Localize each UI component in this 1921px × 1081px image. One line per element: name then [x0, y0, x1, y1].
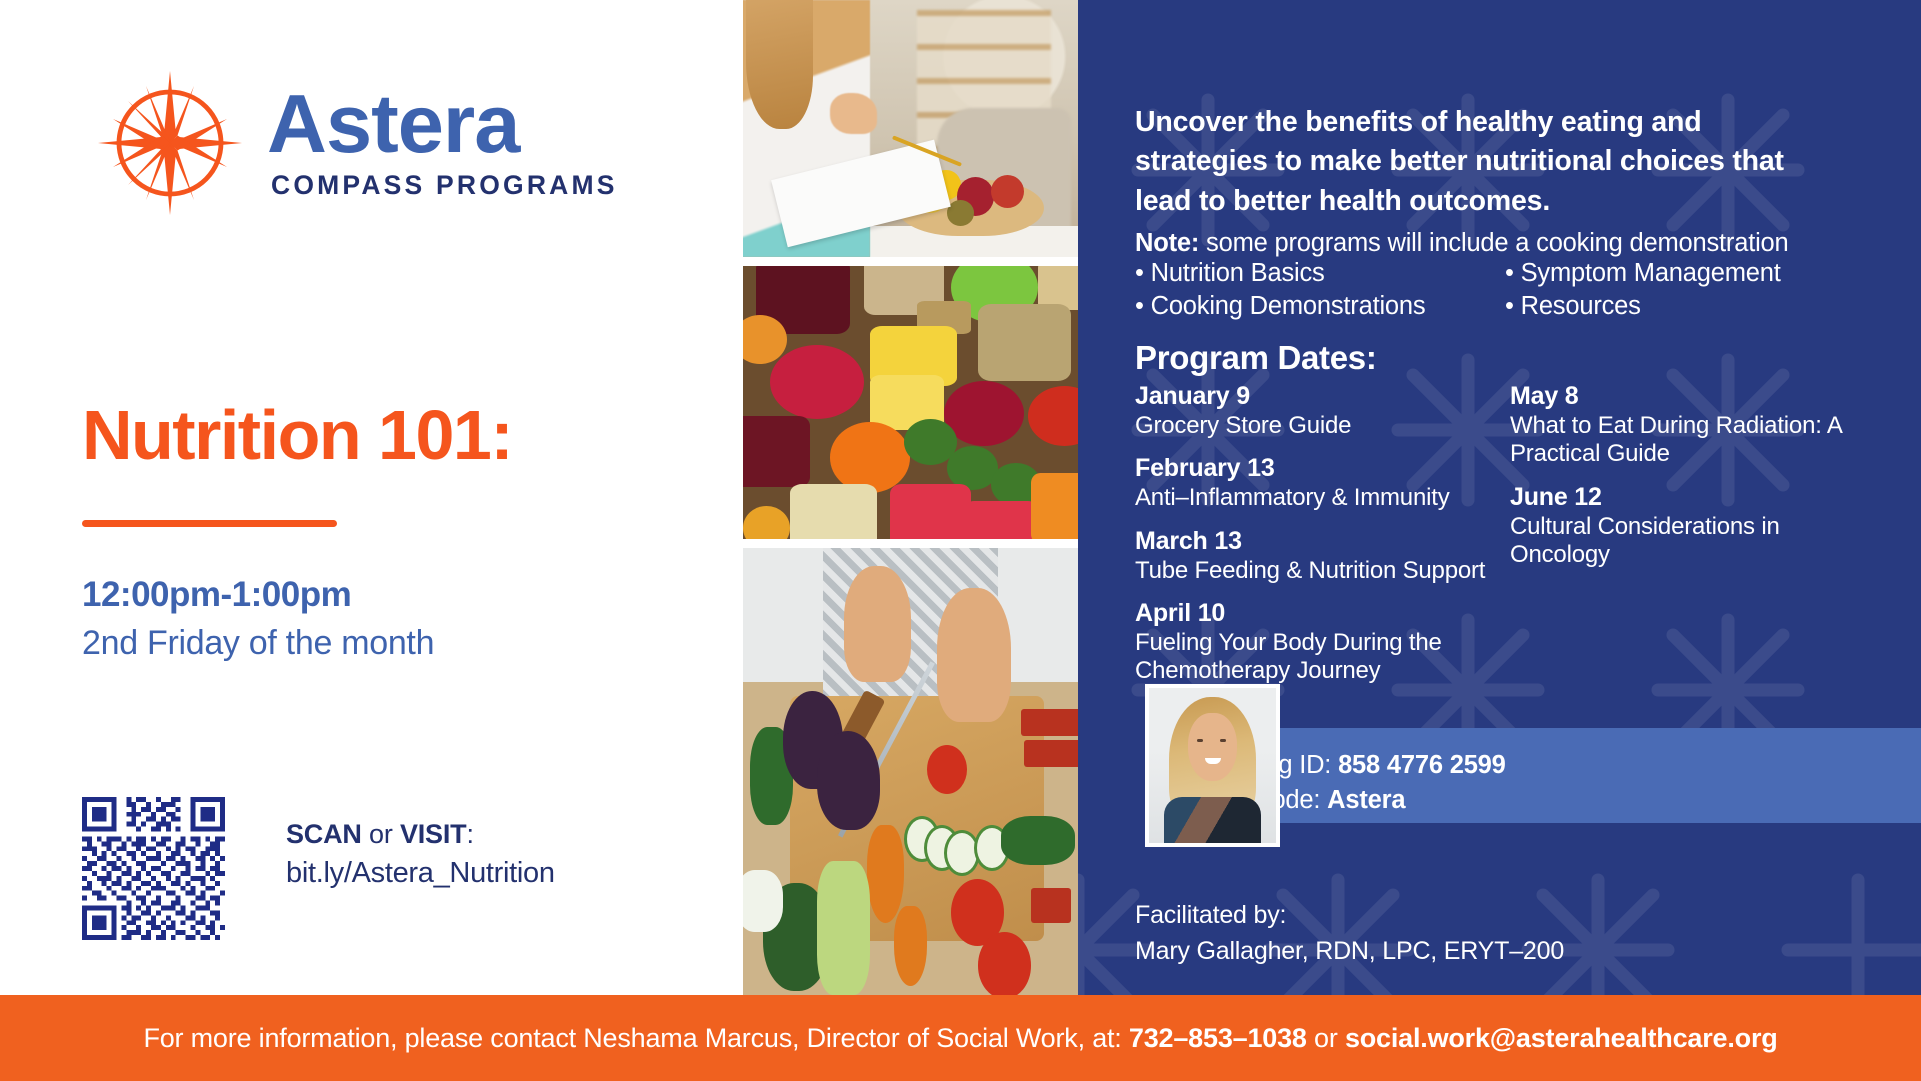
date-entry: February 13 Anti–Inflammatory & Immunity: [1135, 453, 1510, 512]
program-dates-heading: Program Dates:: [1135, 339, 1377, 377]
facilitated-by-label: Facilitated by:: [1135, 898, 1564, 934]
scan-label: SCAN: [286, 819, 362, 849]
date-entry: January 9 Grocery Store Guide: [1135, 381, 1510, 440]
date-topic: Cultural Considerations in Oncology: [1510, 513, 1885, 570]
date-topic: Tube Feeding & Nutrition Support: [1135, 557, 1510, 585]
scan-or-visit-line: SCAN or VISIT:: [286, 819, 555, 850]
date-topic: Grocery Store Guide: [1135, 412, 1510, 440]
visit-url[interactable]: bit.ly/Astera_Nutrition: [286, 857, 555, 890]
topics-left-column: • Nutrition Basics • Cooking Demonstrati…: [1135, 258, 1505, 324]
page-title: Nutrition 101:: [82, 400, 702, 470]
date-entry: June 12 Cultural Considerations in Oncol…: [1510, 482, 1885, 570]
date-label: May 8: [1510, 381, 1885, 411]
program-dates-list: January 9 Grocery Store Guide February 1…: [1135, 381, 1921, 699]
date-label: February 13: [1135, 453, 1510, 483]
healthy-foods-flatlay-photo: [743, 266, 1078, 539]
date-label: June 12: [1510, 482, 1885, 512]
date-topic: What to Eat During Radiation: A Practica…: [1510, 412, 1885, 469]
topic-item: • Nutrition Basics: [1135, 258, 1505, 289]
title-block: Nutrition 101: 12:00pm-1:00pm 2nd Friday…: [82, 400, 702, 663]
date-topic: Fueling Your Body During the Chemotherap…: [1135, 629, 1510, 686]
dates-right-column: May 8 What to Eat During Radiation: A Pr…: [1510, 381, 1885, 699]
topic-item: • Resources: [1505, 291, 1875, 322]
qr-block: SCAN or VISIT: bit.ly/Astera_Nutrition: [82, 797, 555, 940]
meeting-id-value: 858 4776 2599: [1338, 751, 1506, 779]
flyer-canvas: Astera COMPASS PROGRAMS Nutrition 101: 1…: [0, 0, 1921, 1081]
date-label: March 13: [1135, 526, 1510, 556]
topic-item: • Cooking Demonstrations: [1135, 291, 1505, 322]
program-time: 12:00pm-1:00pm: [82, 575, 702, 615]
footer-email[interactable]: social.work@asterahealthcare.org: [1345, 1023, 1778, 1053]
visit-label: VISIT: [400, 819, 467, 849]
intro-paragraph: Uncover the benefits of healthy eating a…: [1135, 103, 1825, 221]
chopping-vegetables-photo: [743, 548, 1078, 995]
contact-footer-bar: For more information, please contact Nes…: [0, 995, 1921, 1081]
date-entry: May 8 What to Eat During Radiation: A Pr…: [1510, 381, 1885, 469]
dates-left-column: January 9 Grocery Store Guide February 1…: [1135, 381, 1510, 699]
scan-colon: :: [466, 819, 473, 849]
scan-instructions: SCAN or VISIT: bit.ly/Astera_Nutrition: [286, 819, 555, 890]
logo-wordmark: Astera COMPASS PROGRAMS: [267, 85, 618, 202]
topic-item: • Symptom Management: [1505, 258, 1875, 289]
dietitian-consultation-photo: [743, 0, 1078, 257]
facilitator-block: Facilitated by: Mary Gallagher, RDN, LPC…: [1135, 898, 1564, 969]
date-topic: Anti–Inflammatory & Immunity: [1135, 484, 1510, 512]
title-divider: [82, 520, 337, 527]
passcode-value: Astera: [1327, 786, 1405, 814]
facilitator-name: Mary Gallagher, RDN, LPC, ERYT–200: [1135, 934, 1564, 970]
qr-code-icon[interactable]: [82, 797, 225, 940]
date-entry: March 13 Tube Feeding & Nutrition Suppor…: [1135, 526, 1510, 585]
date-label: April 10: [1135, 598, 1510, 628]
note-text: some programs will include a cooking dem…: [1199, 229, 1788, 257]
program-frequency: 2nd Friday of the month: [82, 624, 702, 663]
scan-conjunction: or: [362, 819, 400, 849]
photo-gap-2: [743, 539, 1078, 548]
footer-text-b: or: [1307, 1023, 1345, 1053]
left-column: Astera COMPASS PROGRAMS Nutrition 101: 1…: [0, 0, 743, 995]
date-entry: April 10 Fueling Your Body During the Ch…: [1135, 598, 1510, 686]
photo-column: [743, 0, 1078, 995]
logo-name: Astera: [267, 85, 618, 164]
footer-text-a: For more information, please contact Nes…: [143, 1023, 1128, 1053]
topics-right-column: • Symptom Management • Resources: [1505, 258, 1875, 324]
brand-logo: Astera COMPASS PROGRAMS: [95, 68, 618, 218]
footer-phone[interactable]: 732–853–1038: [1129, 1023, 1307, 1053]
presenter-headshot: [1145, 684, 1280, 847]
footer-contact-text: For more information, please contact Nes…: [143, 1023, 1777, 1054]
logo-subtitle: COMPASS PROGRAMS: [271, 170, 618, 201]
note-line: Note: some programs will include a cooki…: [1135, 229, 1875, 258]
compass-rose-icon: [95, 68, 245, 218]
note-label: Note:: [1135, 229, 1199, 257]
date-label: January 9: [1135, 381, 1510, 411]
photo-gap-1: [743, 257, 1078, 266]
topic-bullets: • Nutrition Basics • Cooking Demonstrati…: [1135, 258, 1875, 324]
